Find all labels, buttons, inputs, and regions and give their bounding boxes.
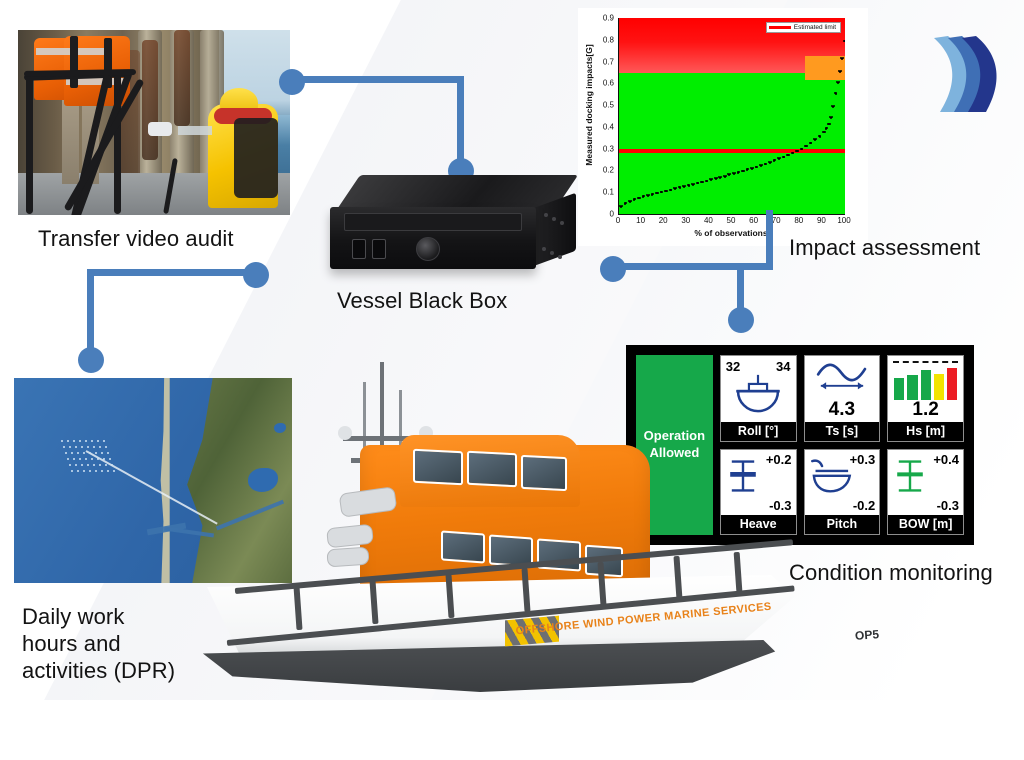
chart-x-tick: 80 bbox=[794, 216, 803, 225]
tile-ts[interactable]: 4.3 Ts [s] bbox=[804, 355, 881, 442]
map-wind-turbine bbox=[97, 440, 99, 442]
vessel-window-bridge-2 bbox=[467, 451, 517, 488]
chart-x-tick: 70 bbox=[772, 216, 781, 225]
crew-transfer-vessel-illustration: OFFSHORE WIND POWER MARINE SERVICES OP5 bbox=[175, 340, 815, 740]
caption-transfer-video-audit: Transfer video audit bbox=[38, 226, 234, 253]
map-wind-turbine bbox=[61, 440, 63, 442]
blackbox-drive-slot bbox=[344, 213, 522, 231]
map-wind-turbine bbox=[89, 470, 91, 472]
chart-y-tick: 0.6 bbox=[603, 79, 614, 88]
tile-pitch-body: +0.3 -0.2 bbox=[805, 450, 880, 516]
ts-value: 4.3 bbox=[805, 399, 880, 421]
chart-data-point bbox=[797, 150, 799, 152]
map-wind-turbine bbox=[105, 464, 107, 466]
connector-dot-map bbox=[78, 347, 104, 373]
chart-data-point bbox=[725, 175, 727, 177]
chart-x-tick: 0 bbox=[616, 216, 620, 225]
tile-ts-body: 4.3 bbox=[805, 356, 880, 422]
chart-data-point bbox=[788, 154, 790, 156]
chart-plot-area: Estimated limit bbox=[618, 18, 845, 215]
chart-y-tick: 0 bbox=[610, 210, 614, 219]
pitch-max-value: +0.3 bbox=[850, 452, 876, 467]
chart-data-point bbox=[829, 123, 831, 125]
map-wind-turbine bbox=[107, 452, 109, 454]
chart-x-tick: 40 bbox=[704, 216, 713, 225]
chart-x-tick: 100 bbox=[837, 216, 850, 225]
chart-data-point bbox=[720, 176, 722, 178]
map-wind-turbine bbox=[81, 446, 83, 448]
map-wind-turbine bbox=[79, 458, 81, 460]
vessel-window-bridge-1 bbox=[413, 449, 463, 486]
map-wind-turbine bbox=[111, 464, 113, 466]
map-wind-turbine bbox=[99, 446, 101, 448]
vent-hole-1 bbox=[544, 213, 548, 217]
chart-data-point bbox=[806, 145, 808, 147]
photo-glove bbox=[148, 122, 172, 136]
caption-dpr-line-1: Daily work bbox=[22, 604, 175, 631]
tile-ts-label: Ts [s] bbox=[805, 422, 880, 441]
caption-impact-assessment: Impact assessment bbox=[789, 235, 980, 262]
chart-data-point bbox=[831, 116, 833, 118]
vessel-mast-main bbox=[380, 362, 384, 457]
chart-data-point bbox=[752, 167, 754, 169]
chart-y-axis-label-wrap: Measured docking impacts[G] bbox=[576, 8, 590, 213]
legend-swatch-estimated-limit bbox=[769, 26, 791, 29]
map-wind-turbine bbox=[99, 464, 101, 466]
map-wind-turbine bbox=[91, 440, 93, 442]
map-wind-turbine bbox=[67, 458, 69, 460]
chart-x-tick: 20 bbox=[659, 216, 668, 225]
blackbox-front-face bbox=[330, 207, 536, 269]
caption-dpr-line-2: hours and bbox=[22, 631, 175, 658]
map-wind-turbine bbox=[103, 458, 105, 460]
map-wind-turbine bbox=[79, 440, 81, 442]
tile-bow-label: BOW [m] bbox=[888, 515, 963, 534]
vessel-window-bridge-3 bbox=[521, 455, 567, 491]
chart-data-point bbox=[738, 171, 740, 173]
chart-y-tick: 0.5 bbox=[603, 101, 614, 110]
hs-value: 1.2 bbox=[888, 399, 963, 421]
chart-x-tick: 90 bbox=[817, 216, 826, 225]
legend-label-estimated-limit: Estimated limit bbox=[794, 24, 836, 31]
chart-data-point bbox=[657, 192, 659, 194]
bow-min-value: -0.3 bbox=[937, 498, 959, 513]
photo-rail-post-1 bbox=[26, 74, 33, 214]
chart-x-ticks: 0102030405060708090100 bbox=[618, 216, 844, 228]
chart-green-zone-tail bbox=[805, 80, 845, 214]
vessel-antenna-1 bbox=[363, 382, 366, 452]
usb-port-icon-1 bbox=[352, 239, 366, 259]
connector-line-transfer-h bbox=[292, 76, 464, 83]
map-wind-turbine bbox=[75, 446, 77, 448]
chart-data-point bbox=[630, 200, 632, 202]
transfer-video-photo bbox=[18, 30, 290, 215]
map-wind-turbine bbox=[77, 470, 79, 472]
map-wind-turbine bbox=[93, 446, 95, 448]
chart-y-tick: 0.2 bbox=[603, 166, 614, 175]
swoosh-logo-icon bbox=[884, 20, 1024, 120]
photo-sleeve-stripe bbox=[178, 126, 212, 135]
chart-estimated-limit-line bbox=[619, 149, 845, 153]
hs-threshold-dashed-line bbox=[893, 361, 958, 363]
map-wind-turbine bbox=[69, 446, 71, 448]
tile-hs-body: 1.2 bbox=[888, 356, 963, 422]
chart-y-tick: 0.9 bbox=[603, 14, 614, 23]
tile-hs-label: Hs [m] bbox=[888, 422, 963, 441]
map-wind-turbine bbox=[71, 452, 73, 454]
vent-hole-6 bbox=[558, 255, 562, 259]
chart-y-tick: 0.4 bbox=[603, 122, 614, 131]
map-wind-turbine bbox=[89, 452, 91, 454]
chart-data-point bbox=[770, 161, 772, 163]
caption-vessel-black-box: Vessel Black Box bbox=[337, 288, 507, 315]
chart-y-tick: 0.1 bbox=[603, 188, 614, 197]
map-wind-turbine bbox=[105, 446, 107, 448]
chart-data-point bbox=[756, 166, 758, 168]
photo-worker1-legs-l bbox=[62, 96, 79, 184]
vessel-pitch-icon bbox=[809, 456, 853, 494]
chart-x-tick: 30 bbox=[681, 216, 690, 225]
hs-bar bbox=[894, 378, 904, 399]
chart-x-tick: 60 bbox=[749, 216, 758, 225]
map-wind-farm-array bbox=[61, 440, 119, 476]
map-wind-turbine bbox=[103, 440, 105, 442]
pitch-min-value: -0.2 bbox=[853, 498, 875, 513]
vent-hole-3 bbox=[560, 221, 564, 225]
photo-harness-strap-1 bbox=[70, 36, 78, 88]
vessel-black-box-device bbox=[330, 175, 580, 295]
bow-max-value: +0.4 bbox=[933, 452, 959, 467]
caption-condition-monitoring: Condition monitoring bbox=[789, 560, 993, 587]
chart-data-point bbox=[765, 163, 767, 165]
vessel-hull-code: OP5 bbox=[855, 627, 880, 643]
map-wind-turbine bbox=[71, 470, 73, 472]
map-wind-turbine bbox=[63, 446, 65, 448]
map-wind-turbine bbox=[101, 452, 103, 454]
hs-bar bbox=[907, 375, 917, 399]
caption-dpr-line-3: activities (DPR) bbox=[22, 658, 175, 685]
corner-brand-logo bbox=[884, 20, 1024, 120]
chart-data-point bbox=[734, 172, 736, 174]
chart-y-tick: 0.7 bbox=[603, 57, 614, 66]
chart-x-tick: 10 bbox=[636, 216, 645, 225]
caption-daily-work-hours: Daily work hours and activities (DPR) bbox=[22, 604, 175, 684]
tile-pitch-label: Pitch bbox=[805, 515, 880, 534]
map-wind-turbine bbox=[107, 470, 109, 472]
map-wind-turbine bbox=[87, 446, 89, 448]
map-wind-turbine bbox=[95, 470, 97, 472]
map-wind-turbine bbox=[67, 440, 69, 442]
map-wind-turbine bbox=[109, 458, 111, 460]
map-wind-turbine bbox=[91, 458, 93, 460]
map-wind-turbine bbox=[83, 452, 85, 454]
chart-data-point bbox=[838, 81, 840, 83]
map-wind-turbine bbox=[97, 458, 99, 460]
map-wind-turbine bbox=[73, 458, 75, 460]
usb-port-icon-2 bbox=[372, 239, 386, 259]
photo-rust-1 bbox=[142, 40, 158, 160]
chart-y-ticks: 00.10.20.30.40.50.60.70.80.9 bbox=[590, 18, 616, 214]
connector-dot-condition-monitoring bbox=[728, 307, 754, 333]
map-wind-turbine bbox=[69, 464, 71, 466]
chart-data-point bbox=[666, 190, 668, 192]
photo-rust-2 bbox=[174, 30, 190, 126]
map-wind-turbine bbox=[95, 452, 97, 454]
tile-hs[interactable]: 1.2 Hs [m] bbox=[887, 355, 964, 442]
map-wind-turbine bbox=[85, 440, 87, 442]
tile-bow[interactable]: +0.4 -0.3 BOW [m] bbox=[887, 449, 964, 536]
chart-data-point bbox=[761, 164, 763, 166]
wave-period-icon bbox=[813, 362, 871, 392]
chart-data-point bbox=[716, 177, 718, 179]
vent-hole-2 bbox=[552, 217, 556, 221]
photo-yellow-harness bbox=[234, 118, 278, 198]
map-wind-turbine bbox=[77, 452, 79, 454]
map-wind-turbine bbox=[113, 470, 115, 472]
hs-bar bbox=[934, 374, 944, 400]
map-wind-turbine bbox=[73, 440, 75, 442]
vessel-window-deck-1 bbox=[441, 530, 485, 563]
chart-data-point bbox=[639, 197, 641, 199]
hs-bar bbox=[947, 368, 957, 400]
chart-data-point bbox=[844, 40, 845, 42]
map-wind-turbine bbox=[65, 452, 67, 454]
impact-assessment-chart: Measured docking impacts[G] 00.10.20.30.… bbox=[578, 8, 868, 246]
map-wind-turbine bbox=[85, 458, 87, 460]
map-wind-turbine bbox=[93, 464, 95, 466]
connector-line-chart-h bbox=[618, 263, 773, 270]
wave-height-bars-icon bbox=[894, 365, 957, 400]
connector-dot-blackbox-right bbox=[600, 256, 626, 282]
power-button-icon[interactable] bbox=[416, 237, 440, 261]
map-wind-turbine bbox=[101, 470, 103, 472]
connector-line-dpr-h bbox=[87, 269, 252, 276]
chart-green-zone-main bbox=[619, 73, 805, 214]
chart-data-point bbox=[824, 131, 826, 133]
chart-orange-zone bbox=[805, 56, 845, 80]
chart-y-tick: 0.3 bbox=[603, 144, 614, 153]
chart-data-point bbox=[648, 194, 650, 196]
vessel-fender-3 bbox=[326, 547, 369, 568]
vent-hole-5 bbox=[550, 251, 554, 255]
map-wind-turbine bbox=[87, 464, 89, 466]
tile-bow-body: +0.4 -0.3 bbox=[888, 450, 963, 516]
map-wind-turbine bbox=[81, 464, 83, 466]
map-wind-turbine bbox=[75, 464, 77, 466]
chart-data-point bbox=[702, 181, 704, 183]
slide-canvas: Transfer video audit Vessel Black Box Me… bbox=[0, 0, 1024, 760]
chart-data-point bbox=[743, 170, 745, 172]
vessel-nav-light-1 bbox=[338, 426, 352, 440]
connector-line-chart-v bbox=[766, 210, 773, 270]
hs-bar bbox=[921, 370, 931, 400]
connector-line-dpr-v bbox=[87, 269, 94, 356]
chart-y-tick: 0.8 bbox=[603, 35, 614, 44]
chart-x-tick: 50 bbox=[727, 216, 736, 225]
bow-motion-icon bbox=[894, 454, 926, 498]
chart-legend: Estimated limit bbox=[766, 22, 841, 33]
tile-pitch[interactable]: +0.3 -0.2 Pitch bbox=[804, 449, 881, 536]
map-wind-turbine bbox=[83, 470, 85, 472]
chart-data-point bbox=[693, 183, 695, 185]
vent-hole-4 bbox=[542, 247, 546, 251]
